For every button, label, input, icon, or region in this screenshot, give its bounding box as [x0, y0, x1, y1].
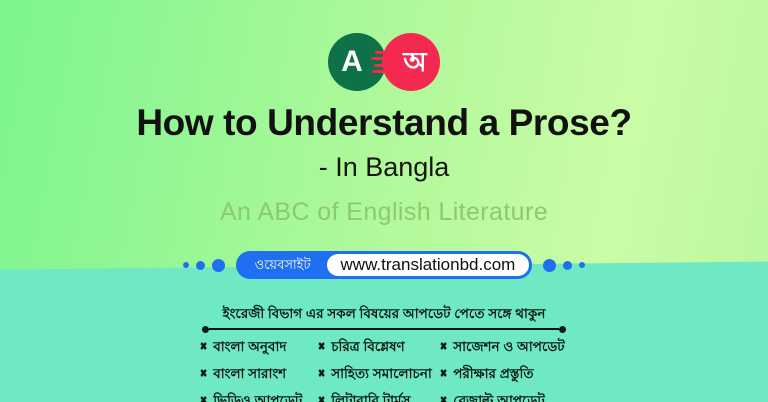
list-item-label: লিটারারি টার্মস: [331, 390, 410, 402]
motion-lines-icon: [371, 51, 397, 73]
logo-right-letter: অ: [403, 49, 426, 76]
list-item-label: বাংলা সারাংশ: [213, 363, 286, 386]
list-item[interactable]: ✖ রেজাল্ট আপডেট: [439, 390, 569, 402]
bullet-icon: ✖: [200, 396, 207, 402]
list-item[interactable]: ✖ সাহিত্য সমালোচনা: [317, 363, 439, 386]
footer-column-3: ✖ সাজেশন ও আপডেট ✖ পরীক্ষার প্রস্তুতি ✖ …: [439, 336, 569, 402]
decor-dot-left-3: [212, 259, 225, 272]
list-item-label: ভিডিও আপডেট: [213, 390, 302, 402]
bullet-icon: ✖: [318, 342, 325, 353]
website-bar: ওয়েবসাইট www.translationbd.com: [0, 248, 768, 282]
decor-dot-right-2: [563, 261, 572, 270]
bullet-icon: ✖: [440, 369, 447, 380]
footer-column-2: ✖ চরিত্র বিশ্লেষণ ✖ সাহিত্য সমালোচনা ✖ ল…: [317, 336, 439, 402]
bullet-icon: ✖: [318, 369, 325, 380]
list-item-label: পরীক্ষার প্রস্তুতি: [453, 363, 533, 386]
list-item[interactable]: ✖ পরীক্ষার প্রস্তুতি: [439, 363, 569, 386]
poster-canvas: A অ How to Understand a Prose? - In Bang…: [0, 0, 768, 402]
logo-circles: A অ: [328, 33, 440, 91]
page-tagline: An ABC of English Literature: [0, 198, 768, 227]
list-item[interactable]: ✖ বাংলা অনুবাদ: [199, 336, 317, 359]
footer-divider: [202, 325, 566, 333]
list-item[interactable]: ✖ লিটারারি টার্মস: [317, 390, 439, 402]
bullet-icon: ✖: [200, 369, 207, 380]
decor-dot-right-3: [579, 262, 585, 268]
website-url[interactable]: www.translationbd.com: [327, 254, 530, 276]
list-item[interactable]: ✖ সাজেশন ও আপডেট: [439, 336, 569, 359]
footer-column-1: ✖ বাংলা অনুবাদ ✖ বাংলা সারাংশ ✖ ভিডিও আপ…: [199, 336, 317, 402]
logo-left-letter: A: [341, 47, 363, 77]
list-item[interactable]: ✖ ভিডিও আপডেট: [199, 390, 317, 402]
list-item-label: সাজেশন ও আপডেট: [453, 336, 564, 359]
brand-logo: A অ: [0, 32, 768, 92]
decor-dot-left-2: [196, 261, 205, 270]
bullet-icon: ✖: [440, 396, 447, 402]
list-item-label: চরিত্র বিশ্লেষণ: [331, 336, 404, 359]
divider-cap-right: [559, 326, 566, 333]
poster-content: A অ How to Understand a Prose? - In Bang…: [0, 0, 768, 402]
list-item[interactable]: ✖ বাংলা সারাংশ: [199, 363, 317, 386]
divider-bar: [209, 328, 559, 330]
list-item-label: রেজাল্ট আপডেট: [453, 390, 544, 402]
decor-dot-right-1: [543, 259, 556, 272]
website-pill[interactable]: ওয়েবসাইট www.translationbd.com: [236, 251, 533, 279]
bullet-icon: ✖: [440, 342, 447, 353]
footer-heading: ইংরেজী বিভাগ এর সকল বিষয়ের আপডেট পেতে স…: [0, 303, 768, 326]
bullet-icon: ✖: [200, 342, 207, 353]
bullet-icon: ✖: [318, 396, 325, 402]
list-item-label: বাংলা অনুবাদ: [213, 336, 286, 359]
page-title: How to Understand a Prose?: [0, 104, 768, 143]
list-item[interactable]: ✖ চরিত্র বিশ্লেষণ: [317, 336, 439, 359]
decor-dot-left-1: [183, 262, 189, 268]
list-item-label: সাহিত্য সমালোচনা: [331, 363, 432, 386]
website-label: ওয়েবসাইট: [239, 254, 327, 276]
footer-topic-grid: ✖ বাংলা অনুবাদ ✖ বাংলা সারাংশ ✖ ভিডিও আপ…: [0, 336, 768, 402]
divider-cap-left: [202, 326, 209, 333]
page-subtitle: - In Bangla: [0, 152, 768, 183]
